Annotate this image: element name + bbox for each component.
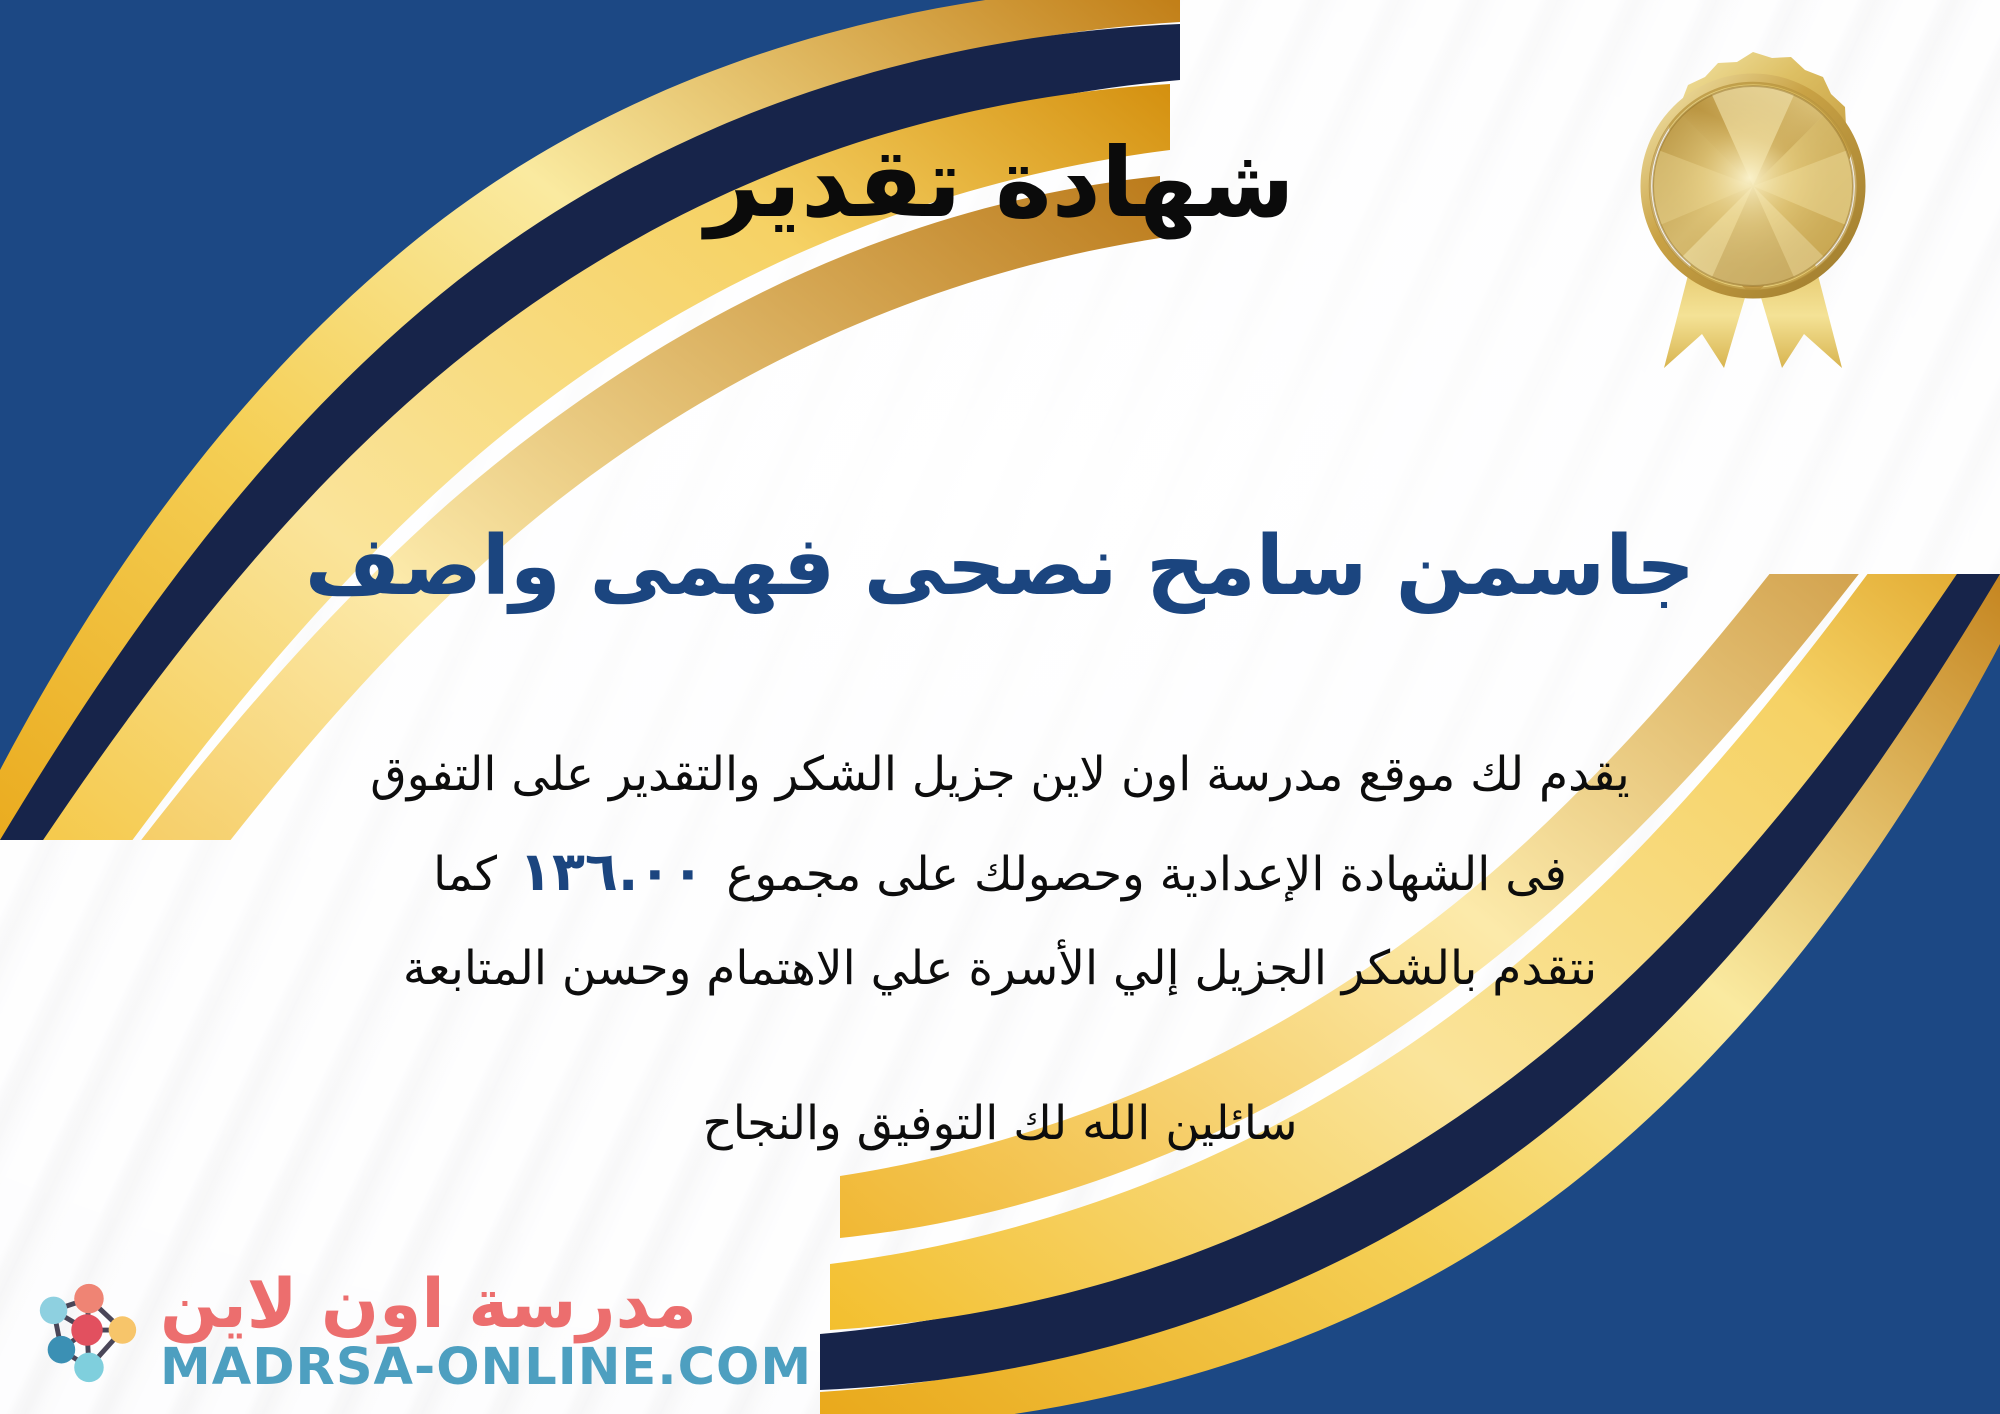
brand-domain[interactable]: MADRSA-ONLINE.COM: [160, 1340, 812, 1396]
brand-name-arabic: مدرسة اون لاين: [160, 1269, 697, 1340]
body-line-3: نتقدم بالشكر الجزيل إلي الأسرة علي الاهت…: [0, 924, 2000, 1014]
recipient-name: جاسمن سامح نصحى فهمى واصف: [0, 518, 2000, 616]
body-line-1: يقدم لك موقع مدرسة اون لاين جزيل الشكر و…: [0, 730, 2000, 820]
network-node-salmon: [74, 1284, 104, 1314]
body-paragraph: يقدم لك موقع مدرسة اون لاين جزيل الشكر و…: [0, 730, 2000, 1014]
network-node-amber: [109, 1317, 137, 1345]
body-line-2: فى الشهادة الإعدادية وحصولك على مجموع١٣٦…: [0, 820, 2000, 924]
closing-line: سائلين الله لك التوفيق والنجاح: [0, 1096, 2000, 1151]
brand-logo[interactable]: مدرسة اون لاين MADRSA-ONLINE.COM: [28, 1269, 812, 1396]
body-line-2-prefix: فى الشهادة الإعدادية وحصولك على مجموع: [726, 847, 1567, 902]
total-score-value: ١٣٦.٠٠: [497, 840, 726, 903]
certificate-page: شهادة تقدير جاسمن سامح نصحى فهمى واصف يق…: [0, 0, 2000, 1414]
network-nodes-icon: [28, 1273, 146, 1391]
network-node-teal: [48, 1336, 76, 1364]
network-node-crimson: [71, 1315, 102, 1346]
network-node-cyan: [74, 1353, 104, 1383]
network-node-light-blue: [40, 1297, 68, 1325]
page-title: شهادة تقدير: [0, 128, 2000, 238]
body-line-2-suffix: كما: [433, 847, 497, 902]
brand-text: مدرسة اون لاين MADRSA-ONLINE.COM: [160, 1269, 812, 1396]
